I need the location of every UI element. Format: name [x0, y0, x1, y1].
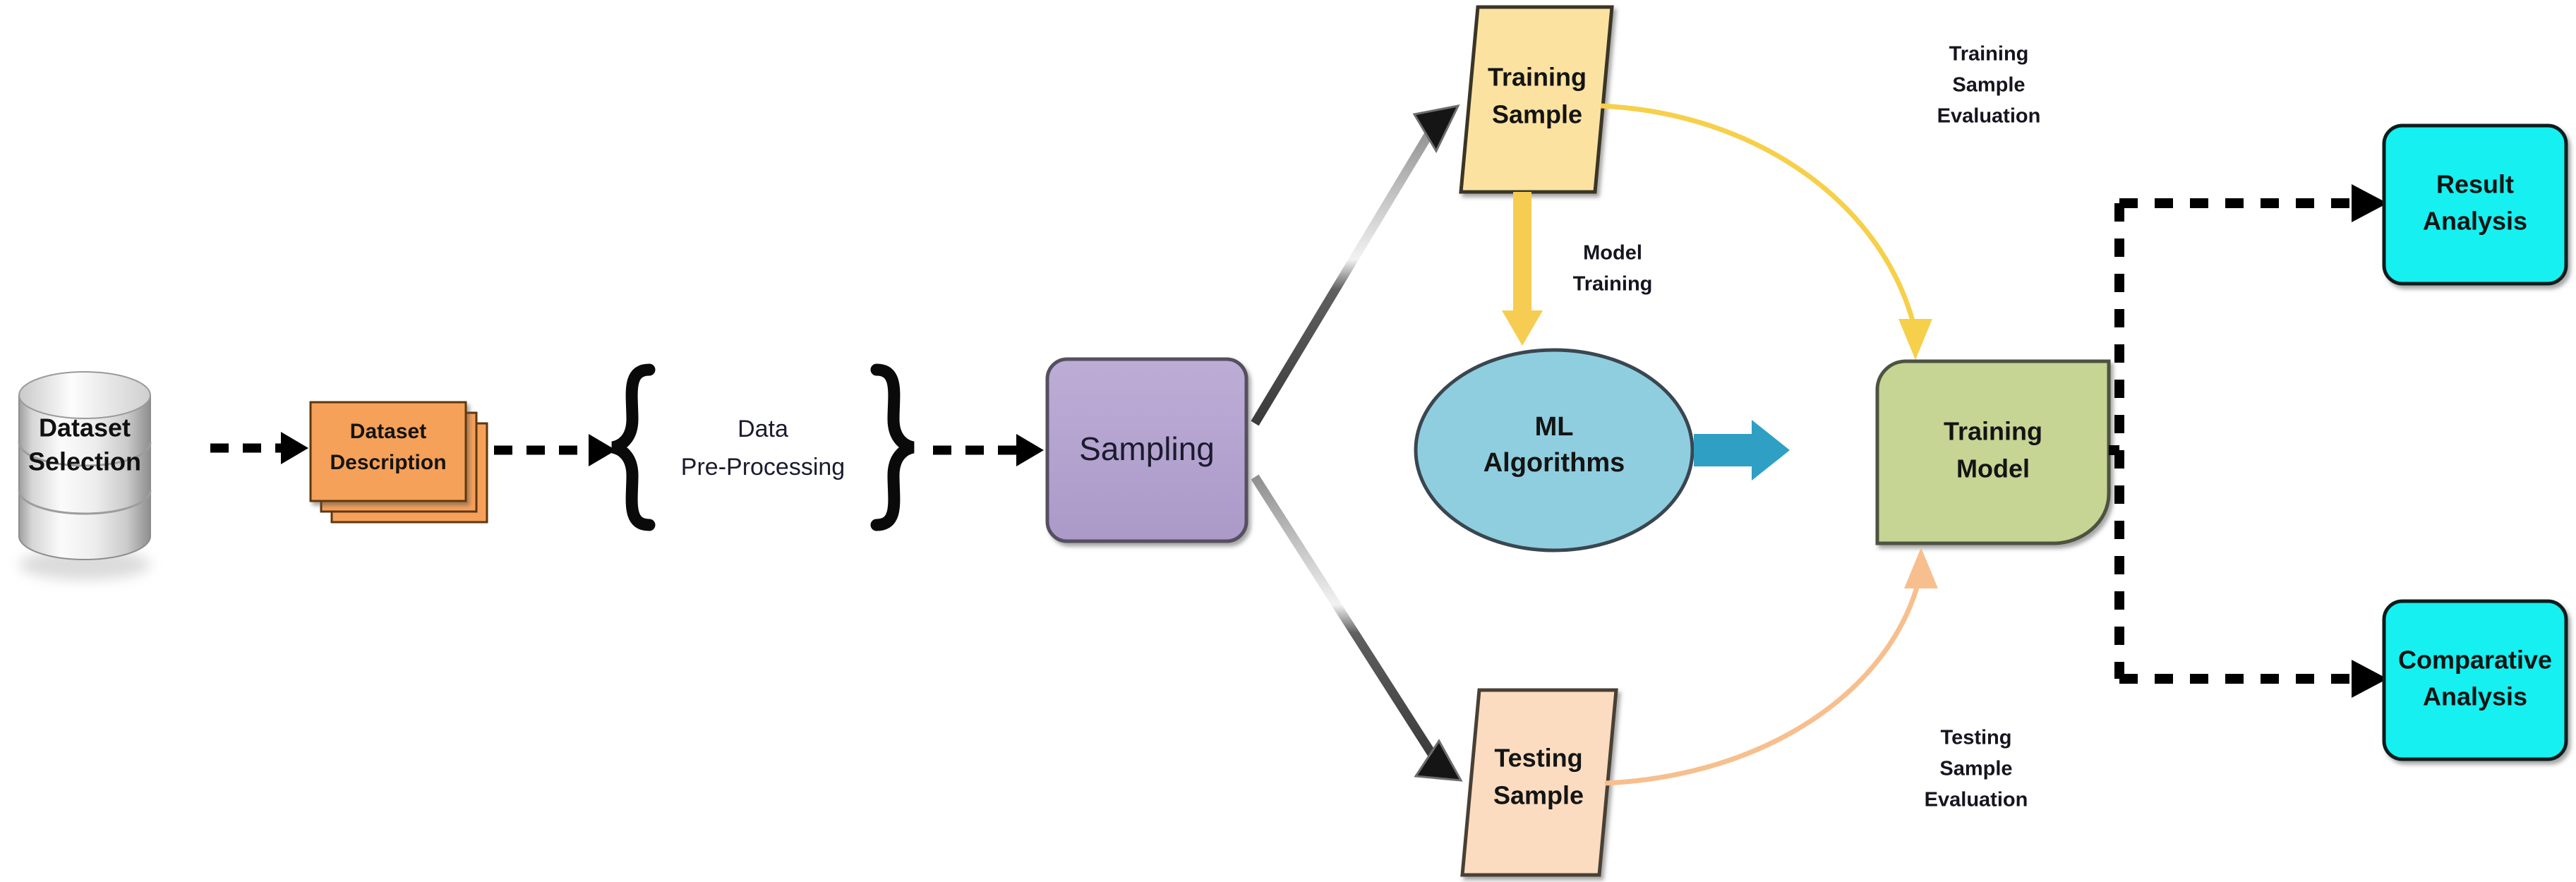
training-sample-evaluation-line2: Sample [1952, 74, 2025, 97]
node-testing-sample[interactable]: Testing Sample [1462, 690, 1616, 875]
node-training-sample[interactable]: Training Sample [1461, 7, 1612, 192]
edge-model-to-result-analysis [2119, 184, 2388, 222]
comparative-analysis-label-line2: Analysis [2423, 682, 2527, 711]
result-analysis-box [2384, 126, 2566, 284]
training-model-label-line2: Model [1956, 454, 2030, 483]
arrowhead [1016, 434, 1044, 466]
data-preprocessing-label-line1: Data [738, 416, 788, 442]
edge-training-sample-to-model: Training Sample Evaluation [1601, 43, 2040, 360]
edge-testing-sample-to-model: Testing Sample Evaluation [1605, 548, 2028, 811]
dataset-description-label-line1: Dataset [350, 420, 426, 443]
training-sample-evaluation-line3: Evaluation [1937, 105, 2041, 128]
edge-preprocessing-to-sampling [933, 434, 1044, 466]
ml-algorithms-label-line2: Algorithms [1483, 448, 1625, 478]
training-model-label-line1: Training [1944, 417, 2042, 446]
node-comparative-analysis[interactable]: Comparative Analysis [2384, 601, 2566, 759]
node-training-model[interactable]: Training Model [1877, 361, 2109, 543]
comparative-analysis-box [2384, 601, 2566, 759]
training-model-shape [1877, 361, 2109, 543]
testing-sample-evaluation-line1: Testing [1941, 727, 2012, 749]
node-dataset-selection[interactable]: Dataset Selection [19, 372, 150, 580]
yellow-block-arrow [1502, 192, 1543, 346]
arrowhead [1904, 548, 1938, 588]
edge-model-to-comparative-analysis [2119, 660, 2388, 698]
testing-sample-evaluation-line3: Evaluation [1925, 789, 2028, 811]
edge-ml-to-training-model [1694, 420, 1790, 481]
training-sample-label-line1: Training [1488, 63, 1587, 92]
model-training-label-line2: Training [1573, 273, 1653, 296]
sampling-label: Sampling [1079, 430, 1215, 467]
arrowhead [281, 432, 308, 464]
comparative-analysis-label-line1: Comparative [2398, 646, 2552, 675]
dataset-selection-label-line2: Selection [28, 447, 141, 476]
arrowhead [2352, 660, 2388, 698]
edge-selection-to-description [210, 432, 308, 464]
edge-training-sample-to-ml: Model Training [1502, 192, 1652, 346]
node-data-preprocessing[interactable]: Data Pre-Processing [613, 370, 913, 525]
ml-algorithms-label-line1: ML [1535, 412, 1574, 442]
data-preprocessing-label-line2: Pre-Processing [681, 454, 845, 481]
cylinder-top [19, 372, 150, 418]
node-sampling[interactable]: Sampling [1047, 359, 1246, 541]
result-analysis-label-line1: Result [2436, 170, 2514, 199]
dataset-description-label-line2: Description [330, 451, 446, 474]
edge-sampling-to-training-sample [1255, 106, 1458, 423]
testing-sample-label-line2: Sample [1493, 781, 1584, 810]
model-training-label-line1: Model [1583, 242, 1642, 265]
node-ml-algorithms[interactable]: ML Algorithms [1416, 350, 1692, 550]
arrowhead [1898, 319, 1932, 360]
left-brace-icon [613, 370, 649, 525]
blue-block-arrow [1694, 420, 1790, 481]
testing-sample-label-line1: Testing [1494, 744, 1582, 773]
training-sample-evaluation-line1: Training [1949, 43, 2029, 66]
yellow-curve [1601, 106, 1915, 332]
node-result-analysis[interactable]: Result Analysis [2384, 126, 2566, 284]
right-brace-icon [877, 370, 913, 525]
training-sample-label-line2: Sample [1492, 100, 1582, 129]
diagram-canvas: Dataset Selection Dataset Description Da… [0, 0, 2576, 882]
gray-shaft [1255, 126, 1434, 423]
gray-shaft [1255, 477, 1436, 761]
testing-sample-evaluation-line2: Sample [1939, 758, 2012, 780]
result-analysis-label-line2: Analysis [2423, 207, 2527, 236]
arrowhead [2352, 184, 2388, 222]
orange-curve [1605, 577, 1920, 783]
edge-description-to-preprocessing [494, 434, 616, 466]
node-dataset-description[interactable]: Dataset Description [311, 402, 487, 522]
edge-sampling-to-testing-sample [1255, 477, 1461, 780]
dataset-selection-label-line1: Dataset [39, 413, 131, 442]
